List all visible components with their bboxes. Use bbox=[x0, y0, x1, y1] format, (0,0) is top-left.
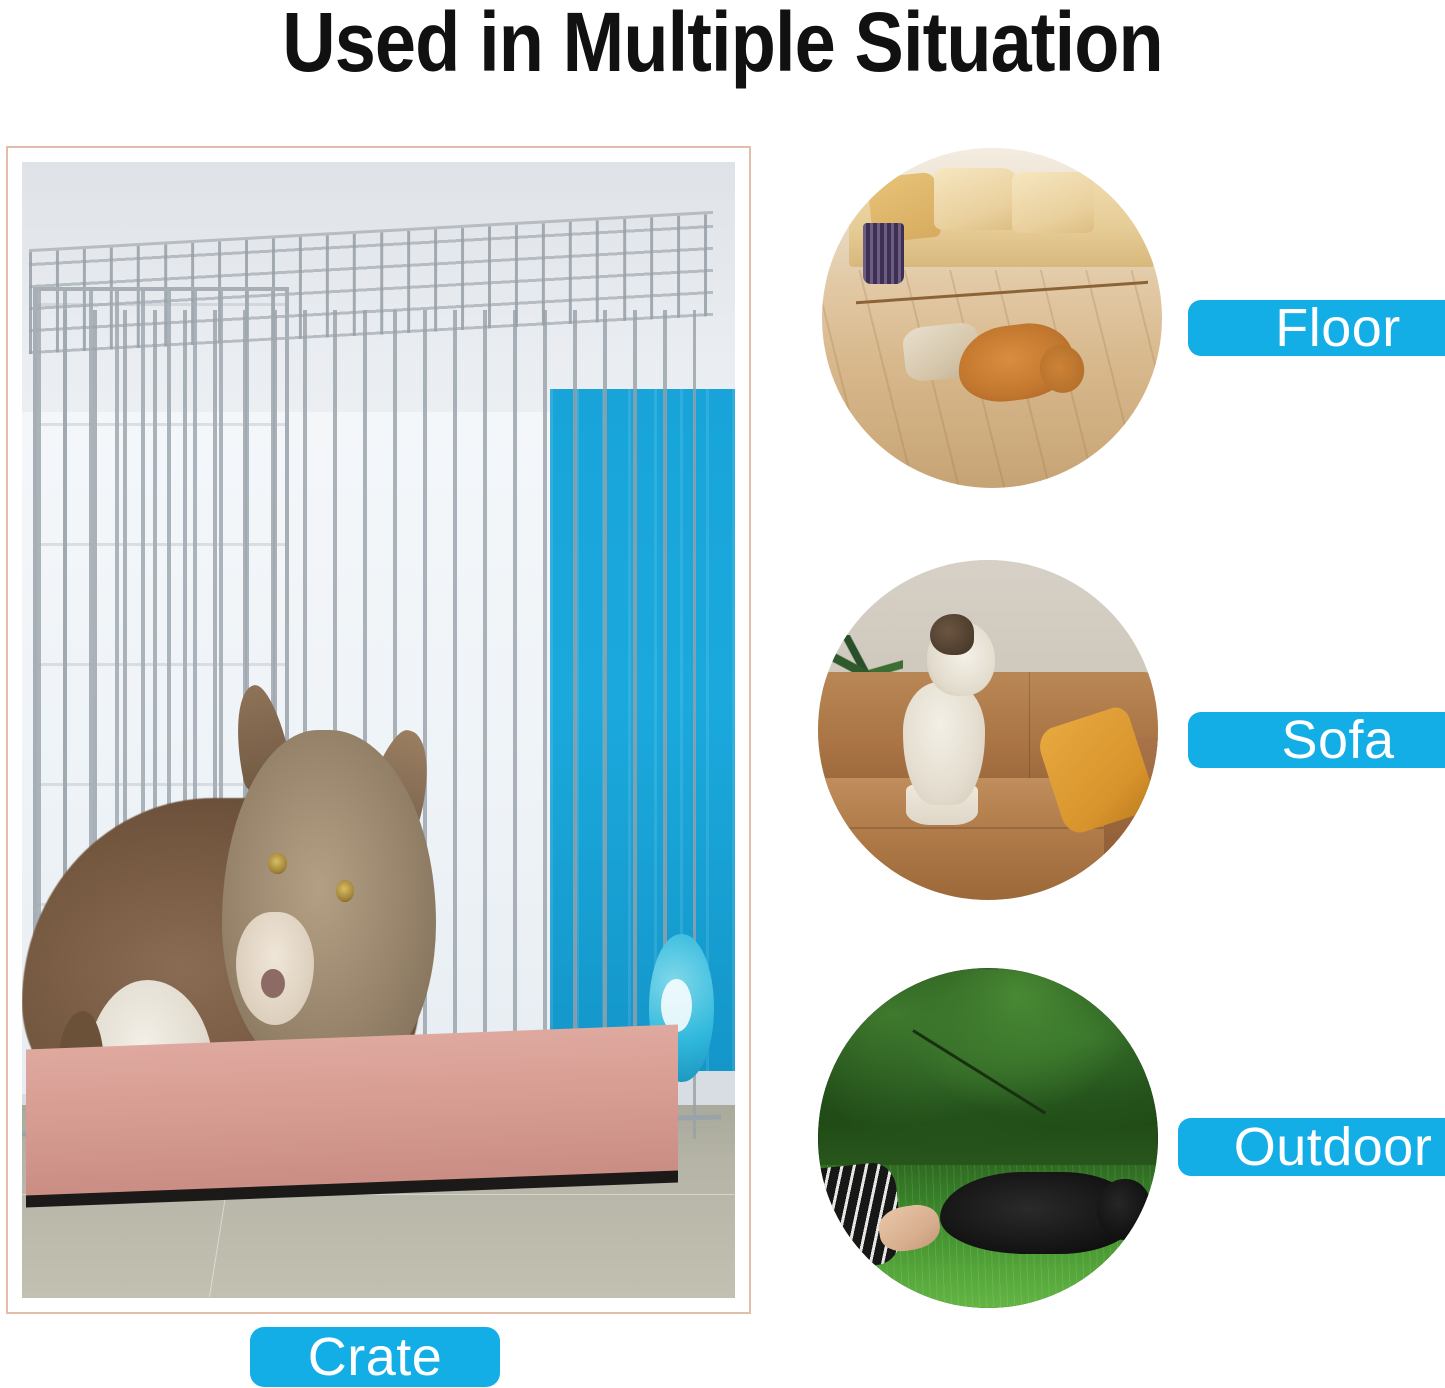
label-badge-sofa: Sofa bbox=[1188, 712, 1445, 768]
label-badge-floor: Floor bbox=[1188, 300, 1445, 356]
floor-scene-cushion bbox=[1012, 172, 1094, 233]
sofa-scene-dog-topknot bbox=[930, 614, 974, 655]
floor-scene bbox=[822, 148, 1162, 488]
pink-plush-dog-bed bbox=[26, 1024, 678, 1197]
situation-photo-floor bbox=[822, 148, 1162, 488]
crate-dog-eye-right bbox=[336, 880, 355, 902]
crate-dog-nose bbox=[261, 969, 285, 999]
situation-photo-outdoor bbox=[818, 968, 1158, 1308]
sofa-scene bbox=[818, 560, 1158, 900]
outdoor-scene-dog-head bbox=[1097, 1179, 1151, 1240]
hero-photo-frame bbox=[6, 146, 751, 1314]
floor-scene-cushion bbox=[934, 168, 1016, 229]
situation-photo-sofa bbox=[818, 560, 1158, 900]
outdoor-scene-tree-canopy bbox=[818, 968, 1158, 1179]
crate-dog-eye-left bbox=[268, 853, 287, 875]
page-title: Used in Multiple Situation bbox=[87, 0, 1359, 90]
sofa-scene-dog-body bbox=[903, 682, 985, 804]
label-badge-crate: Crate bbox=[250, 1327, 500, 1387]
label-badge-outdoor: Outdoor bbox=[1178, 1118, 1445, 1176]
crate-photo bbox=[22, 162, 735, 1298]
outdoor-scene bbox=[818, 968, 1158, 1308]
